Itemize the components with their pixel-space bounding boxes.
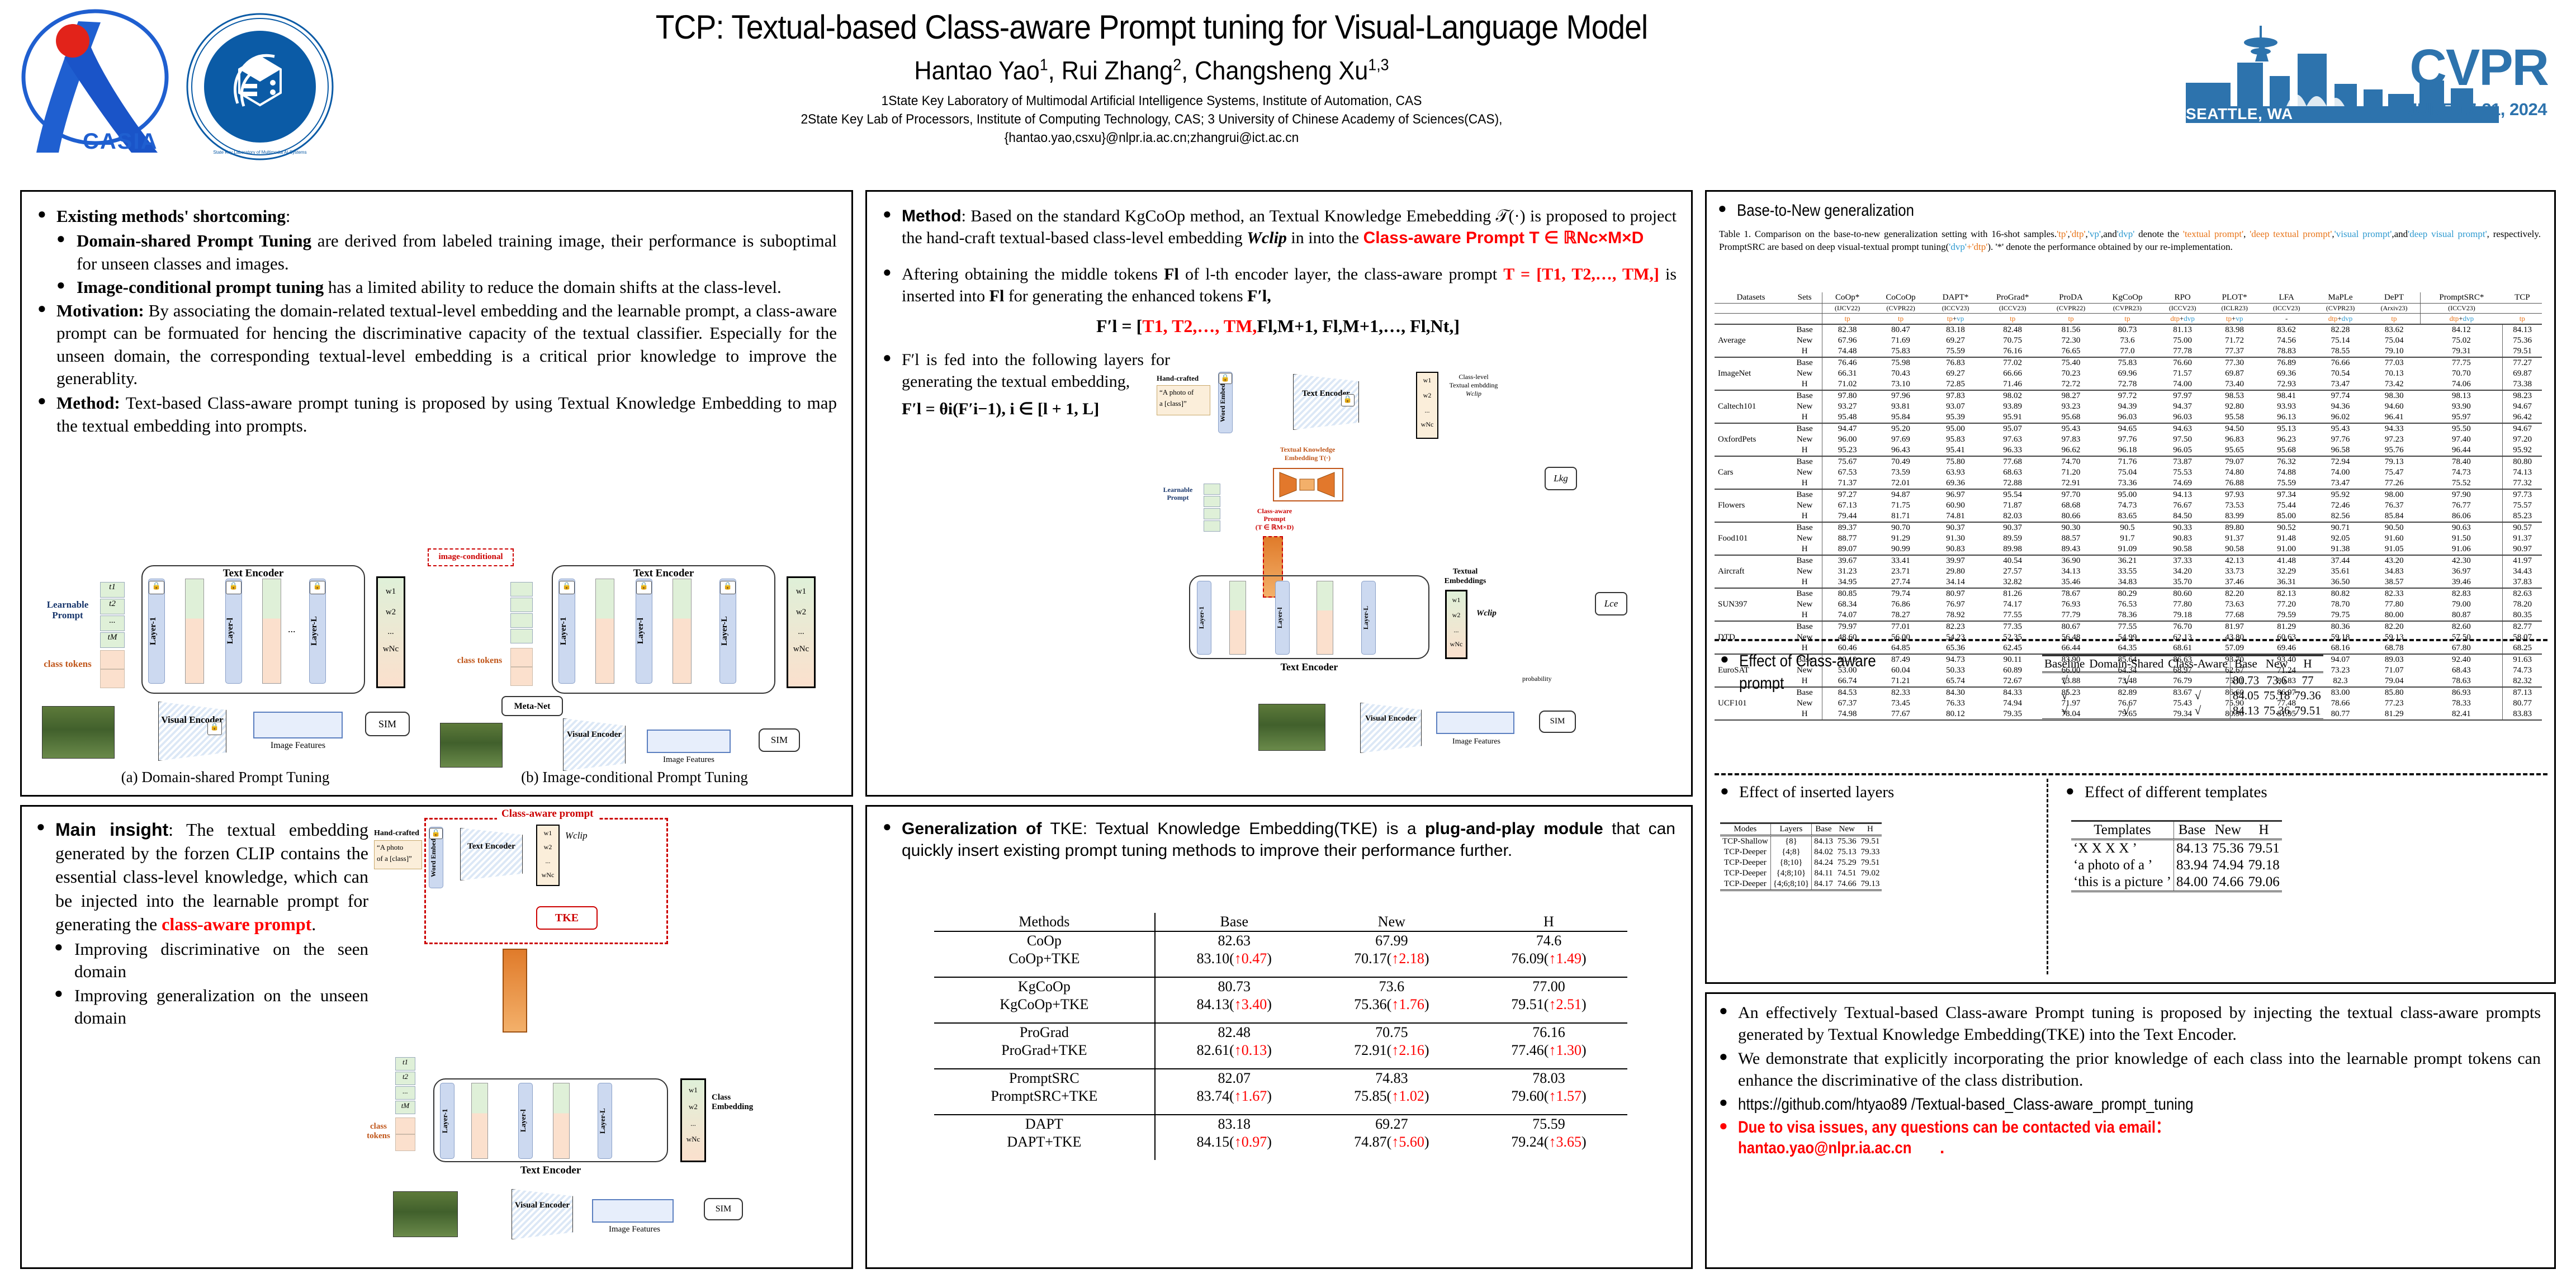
cell-value: 72.94	[2313, 456, 2368, 467]
fig-a-text-encoder-box	[141, 565, 365, 694]
contact-email-link[interactable]: hantao.yao@nlpr.ia.ac.cn	[1738, 1138, 1911, 1159]
bullet-effect-templates: Effect of different templates	[2062, 782, 2543, 803]
fig-c-token-dots: ...	[395, 1086, 415, 1100]
cell-new: 74.94	[2210, 857, 2246, 874]
table-row: ProGrad82.4870.7576.16	[934, 1023, 1627, 1041]
cell-value: 59.18	[2313, 632, 2368, 643]
fig-a-mid-tokens-1	[185, 579, 204, 684]
column-header: Datasets	[1715, 292, 1787, 304]
cell-value: 93.89	[1982, 401, 2043, 412]
cell-value: 82.33	[2368, 588, 2421, 599]
column-header: Base	[1155, 913, 1313, 931]
cell-value: 74.69	[2156, 478, 2209, 489]
cell-value: 64.35	[2099, 643, 2156, 654]
fm-prompt-line-2: a [class]”	[1157, 399, 1210, 408]
cell-value: 80.66	[2043, 511, 2099, 522]
cell-value: 73.47	[2313, 478, 2368, 489]
fig-c-class-tokens-label: class tokens	[363, 1122, 394, 1140]
cell-value: 59.13	[2368, 632, 2421, 643]
cell-value: 80.00	[2368, 610, 2421, 621]
equation-1-rest: Fl,M+1, Fl,M+1,…, Fl,Nt,]	[1257, 316, 1460, 336]
column-header: Layers	[1770, 823, 1811, 835]
cell-dataset: OxfordPets	[1715, 423, 1787, 456]
cell-method: PromptSRC	[934, 1069, 1155, 1087]
fm-cll-1: Class-level	[1443, 373, 1504, 381]
cell-value: 77.23	[2368, 698, 2421, 709]
ablation-templates-block: Effect of different templates TemplatesB…	[2062, 782, 2543, 893]
cell-value: 73.42	[2368, 379, 2421, 390]
fm-tke-1: Textual Knowledge	[1268, 446, 1347, 454]
fig-c-image-feature-box	[592, 1199, 674, 1223]
cell-value: 74.00	[2156, 379, 2209, 390]
cell-value: 98.53	[2209, 390, 2260, 401]
cell-set: Base	[1787, 324, 1822, 335]
cell-value: 74.88	[2260, 467, 2313, 478]
table-row: New93.2793.8193.0793.8993.2394.3994.3792…	[1715, 401, 2542, 412]
generalization-text-block: Generalization of TKE: Textual Knowledge…	[867, 807, 1691, 861]
cell-value: 74.73	[2421, 467, 2503, 478]
fig-c-wclip-label: Wclip	[565, 830, 588, 841]
fig-a-learnable-prompt-text: Learnable Prompt	[47, 599, 89, 621]
github-url[interactable]: https://github.com/htyao89 /Textual-base…	[1738, 1093, 2194, 1115]
ablation-caware-title-b-wrap: prompt	[1717, 674, 2030, 693]
fig-b-class-token-2	[510, 667, 533, 686]
cell-value: 77.80	[2156, 599, 2209, 610]
column-prompt-type: tp	[2099, 314, 2156, 325]
svg-text:CASIA: CASIA	[83, 129, 158, 154]
cell-value: 77.80	[2368, 599, 2421, 610]
column-prompt-type: tp	[2043, 314, 2099, 325]
cell-method: CoOp+TKE	[934, 950, 1155, 968]
fm-mid-tokens-2	[1317, 581, 1333, 655]
table-header-row: DatasetsSetsCoOp*CoCoOpDAPT*ProGrad*ProD…	[1715, 292, 2542, 304]
column-prompt-type: tp	[2368, 314, 2421, 325]
cell-value: 94.13	[2156, 489, 2209, 500]
table-row: DAPT83.1869.2775.59	[934, 1115, 1627, 1133]
column-prompt-type	[1787, 314, 1822, 325]
cell-set: H	[1787, 709, 1822, 720]
column-header: New	[2261, 656, 2292, 673]
cell-value: 80.97	[1929, 588, 1982, 599]
cell-set: New	[1787, 566, 1822, 577]
table-row: New67.9671.6969.2770.7572.3073.675.0071.…	[1715, 335, 2542, 346]
cell-value: 96.43	[1872, 445, 1929, 456]
fm-textual-embeddings-label: Textual Embeddings	[1438, 567, 1492, 586]
column-header: H	[1859, 823, 1882, 835]
generalization-table-wrap: MethodsBaseNewHCoOp82.6367.9974.6CoOp+TK…	[934, 913, 1627, 1160]
panel-generalization-tke: Generalization of TKE: Textual Knowledge…	[865, 805, 1693, 1269]
cell-value: 78.92	[1929, 610, 1982, 621]
cell-layers: {4;6;8;10}	[1770, 879, 1811, 891]
cell-value: 56.00	[1872, 632, 1929, 643]
cell-set: New	[1787, 335, 1822, 346]
fig-c-text-encoder-box	[433, 1078, 668, 1162]
cell-value: 96.05	[2156, 445, 2209, 456]
cell-value: 69.36	[1929, 478, 1982, 489]
table-bottom-rule-row	[2071, 891, 2282, 893]
cell-value: 80.85	[1822, 588, 1872, 599]
image-conditional-desc: has a limited ability to reduce the doma…	[324, 277, 782, 297]
cell-value: 75.57	[2503, 500, 2542, 511]
cell-value: 81.97	[2209, 621, 2260, 632]
fig-c-token-t1: t1	[395, 1057, 415, 1071]
cell-value: 40.54	[1982, 555, 2043, 566]
cell-new: 69.27	[1313, 1115, 1470, 1133]
cell-value: 90.71	[2313, 522, 2368, 533]
table-bottom-rule-row	[1720, 890, 1882, 892]
cell-value: 90.33	[2156, 522, 2209, 533]
generalization-title: Generalization of	[902, 820, 1041, 838]
cell-base: 82.48	[1155, 1023, 1313, 1041]
table-spacer-row	[934, 1105, 1627, 1115]
cell-value: 97.76	[2313, 434, 2368, 445]
cell-value: 71.07	[2368, 665, 2421, 676]
cell-value: 97.63	[1982, 434, 2043, 445]
cell-value: 95.91	[1982, 412, 2043, 423]
cell-value: 75.04	[2099, 467, 2156, 478]
column-venue: (CVPR22)	[2043, 304, 2099, 314]
fig-b-class-token-1	[510, 648, 533, 667]
cell-h: 76.09(↑1.49)	[1470, 950, 1627, 968]
cell-value: 97.34	[2260, 489, 2313, 500]
fig-a-token-tM-label: tM	[108, 633, 117, 642]
cell-method: KgCoOp+TKE	[934, 996, 1155, 1014]
fig-a-class-token-1	[100, 650, 125, 669]
cell-base: 84.17	[1812, 879, 1835, 891]
cell-value: 97.70	[2043, 489, 2099, 500]
cell-value: 95.00	[2099, 489, 2156, 500]
cell-value: 95.23	[1822, 445, 1872, 456]
cell-set: H	[1787, 346, 1822, 357]
cell-value: 74.98	[1822, 709, 1872, 720]
cell-value: 77.0	[2099, 346, 2156, 357]
table-row: TCP-Deeper{8;10}84.2475.2979.51	[1720, 858, 1882, 868]
cell-value: 75.83	[2099, 357, 2156, 368]
cell-value: 27.74	[1872, 577, 1929, 588]
cell-set: New	[1787, 500, 1822, 511]
column-venue: (ICCV23)	[1929, 304, 1982, 314]
cell-value: 81.29	[2260, 621, 2313, 632]
column-venue: (ICCV23)	[2156, 304, 2209, 314]
cell-value: 76.89	[2260, 357, 2313, 368]
fig-b-visual-encoder-text: Visual Encoder	[567, 730, 622, 739]
fig-b-token-3	[510, 613, 533, 628]
bullet-github-link[interactable]: https://github.com/htyao89 /Textual-base…	[1716, 1093, 2541, 1115]
cell-value: 34.95	[1822, 577, 1872, 588]
fig-c-token-tM: tM	[395, 1101, 415, 1114]
method-b2-F3: F′l,	[1247, 287, 1271, 305]
cell-value: 83.18	[1929, 324, 1982, 335]
cell-value: 37.46	[2209, 577, 2260, 588]
cell-value: 77.55	[1982, 610, 2043, 621]
cell-value: 79.18	[2156, 610, 2209, 621]
fig-a-lock-icon-1: 🔒	[149, 581, 164, 594]
cell-value: 94.33	[2368, 423, 2421, 434]
cell-value: 57.50	[2421, 632, 2503, 643]
ablation-layers-table-wrap: ModesLayersBaseNewHTCP-Shallow{8}84.1375…	[1720, 822, 2035, 892]
cell-value: 98.02	[1982, 390, 2043, 401]
cell-value: 97.23	[2368, 434, 2421, 445]
column-header: TCP	[2503, 292, 2542, 304]
fig-a-text-encoder-label: Text Encoder	[141, 567, 365, 580]
cell-method: PromptSRC+TKE	[934, 1087, 1155, 1105]
title-block: TCP: Textual-based Class-aware Prompt tu…	[358, 8, 1945, 146]
insight-text-block: Main insight: The textual embedding gene…	[22, 807, 380, 1029]
fig-c-text-encoder-bottom-label: Text Encoder	[433, 1164, 668, 1177]
cell-value: 90.63	[2421, 522, 2503, 533]
fig-c-class-aware-prompt-badge: Class-aware prompt	[497, 808, 598, 820]
cell-value: 68.68	[2043, 500, 2099, 511]
cell-value: 68.78	[2368, 643, 2421, 654]
cell-value: 69.27	[1929, 335, 1982, 346]
affiliation-1: 1State Key Laboratory of Multimodal Arti…	[397, 93, 1906, 109]
fig-a-lock-icon-3: 🔒	[310, 581, 325, 594]
table-row: H34.9527.7434.1432.8235.4634.8335.7037.4…	[1715, 577, 2542, 588]
cell-value: 72.72	[2043, 379, 2099, 390]
cell-new: 73.6	[2261, 673, 2292, 689]
cell-value: 74.80	[2209, 467, 2260, 478]
cell-value: 77.26	[2368, 478, 2421, 489]
cell-value: 91.38	[2313, 544, 2368, 555]
cell-value: 96.00	[1822, 434, 1872, 445]
insight-sub-1-text: Improving discriminative on the seen dom…	[74, 939, 368, 981]
cell-value: 66.66	[1982, 368, 2043, 379]
cell-mode: TCP-Deeper	[1720, 847, 1770, 858]
cell-value: 77.68	[1982, 456, 2043, 467]
cell-value: 70.13	[2368, 368, 2421, 379]
bullet-effect-class-aware: Effect of Class-aware	[1717, 650, 2030, 672]
cell-value: 94.67	[2503, 423, 2542, 434]
fm-cap-1: Class-aware	[1244, 507, 1305, 515]
poster-header: CASIA State	[0, 0, 2576, 184]
table-row: H79.4481.7174.8182.0380.6683.6584.5083.9…	[1715, 511, 2542, 522]
cell-domain-shared-check	[2087, 688, 2166, 703]
cell-value: 34.14	[1929, 577, 1982, 588]
cell-set: Base	[1787, 489, 1822, 500]
fig-c-token-t2: t2	[395, 1072, 415, 1085]
cell-value: 91.06	[2421, 544, 2503, 555]
cell-value: 95.13	[2260, 423, 2313, 434]
cell-value: 95.65	[2209, 445, 2260, 456]
cell-value: 38.57	[2368, 577, 2421, 588]
table-row: H74.0778.2778.9277.5577.7978.3679.1877.6…	[1715, 610, 2542, 621]
cell-value: 52.35	[1982, 632, 2043, 643]
column-prompt-type: tp	[1822, 314, 1872, 325]
cell-value: 96.83	[2209, 434, 2260, 445]
fm-layer-1-label: Layer-1	[1197, 581, 1211, 654]
t1cap-p6: ). '*' denote the performance obtained b…	[1987, 241, 2233, 252]
fm-probability-label: probability	[1522, 675, 1552, 683]
figure-tcp-framework: Class-aware prompt Hand-crafted “A photo…	[368, 816, 849, 1263]
cell-dataset: Cars	[1715, 456, 1787, 489]
cell-value: 71.87	[1982, 500, 2043, 511]
cell-value: 97.73	[2503, 489, 2542, 500]
cell-value: 97.50	[2156, 434, 2209, 445]
fig-c-wclip-vector: w1 w2 ... wNc	[536, 825, 560, 886]
fig-c-ce-wNc: wNc	[682, 1128, 704, 1144]
cell-value: 90.99	[1872, 544, 1929, 555]
cell-value: 80.77	[2503, 698, 2542, 709]
cell-value: 71.46	[1982, 379, 2043, 390]
fig-a-w2: w2	[378, 596, 404, 617]
table-row: New31.2323.7129.8027.5734.1333.5534.2033…	[1715, 566, 2542, 577]
cell-value: 91.09	[2099, 544, 2156, 555]
cell-value: 91.05	[2368, 544, 2421, 555]
bullet-existing-methods-title: Existing methods' shortcoming	[56, 206, 286, 226]
fig-c-wclip-dots: ...	[537, 851, 558, 865]
cell-value: 71.37	[1822, 478, 1872, 489]
cell-value: 79.97	[1822, 621, 1872, 632]
fig-b-image-feature-box	[647, 730, 731, 753]
fig-c-layer-1-label: Layer-1	[441, 1083, 454, 1158]
cell-value: 97.74	[2313, 390, 2368, 401]
t1cap-p4: denote the	[2134, 229, 2183, 239]
column-venue	[2503, 304, 2542, 314]
column-header: Domain-Shared	[2087, 656, 2166, 673]
fm-tke-label: Textual Knowledge Embedding T(·)	[1268, 446, 1347, 462]
method-b2-d: for generating the enhanced tokens	[1004, 287, 1247, 305]
cell-h: 79.51	[1859, 835, 1882, 847]
table-row: New88.7791.2991.3089.5988.5791.790.8391.…	[1715, 533, 2542, 544]
fig-c-class-embedding-label: Class Embedding	[712, 1093, 747, 1112]
cell-class-aware-check	[2166, 673, 2230, 689]
fm-lp-token-1	[1204, 484, 1220, 495]
table-spacer-row	[934, 1014, 1627, 1023]
table-row: TCP-Deeper{4;8;10}84.1174.5179.02	[1720, 868, 1882, 879]
cell-value: 72.46	[2313, 500, 2368, 511]
bullet-main-insight: Main insight: The textual embedding gene…	[33, 818, 368, 936]
fig-c-layer-l: Layer-l	[518, 1083, 533, 1159]
cell-value: 78.33	[2421, 698, 2503, 709]
fm-text-encoder-box	[1189, 575, 1429, 659]
cell-value: 62.13	[2156, 632, 2209, 643]
cell-value: 83.98	[2209, 324, 2260, 335]
cell-h: 79.51	[2292, 703, 2323, 719]
column-header: KgCoOp	[2099, 292, 2156, 304]
fig-b-text-encoder-label: Text Encoder	[552, 567, 775, 580]
cell-value: 39.67	[1822, 555, 1872, 566]
cell-value: 70.70	[2421, 368, 2503, 379]
cell-h: 76.16	[1470, 1023, 1627, 1041]
cell-value: 95.92	[2503, 445, 2542, 456]
cell-value: 68.63	[1982, 467, 2043, 478]
cell-value: 36.21	[2099, 555, 2156, 566]
cell-value: 75.80	[1929, 456, 1982, 467]
cell-mode: TCP-Deeper	[1720, 879, 1770, 891]
cell-value: 95.20	[1872, 423, 1929, 434]
cell-set: H	[1787, 577, 1822, 588]
fig-a-token-dots: ...	[100, 615, 125, 631]
bullet-visa-notice: Due to visa issues, any questions can be…	[1716, 1117, 2541, 1158]
cell-h: 79.02	[1859, 868, 1882, 879]
fig-c-wclip-w2: w2	[537, 837, 558, 851]
cell-value: 37.83	[2503, 577, 2542, 588]
cell-value: 86.93	[2421, 687, 2503, 698]
cell-value: 75.00	[2156, 335, 2209, 346]
cell-value: 76.77	[2421, 500, 2503, 511]
cell-value: 78.55	[2313, 346, 2368, 357]
cell-value: 71.75	[1872, 500, 1929, 511]
cell-value: 56.48	[2043, 632, 2099, 643]
cell-value: 76.46	[1822, 357, 1872, 368]
cell-method: CoOp	[934, 931, 1155, 950]
cell-value: 39.46	[2421, 577, 2503, 588]
image-conditional-term: Image-conditional prompt tuning	[77, 277, 324, 297]
cell-value: 70.54	[2313, 368, 2368, 379]
fig-c-prompt-line-2: of a [class]”	[375, 854, 422, 863]
fm-lp-token-3	[1204, 508, 1220, 519]
cell-template: ‘this is a picture ’	[2071, 874, 2173, 892]
cell-set: Base	[1787, 522, 1822, 533]
cell-base: 83.74(↑1.67)	[1155, 1087, 1313, 1105]
cell-value: 89.80	[2209, 522, 2260, 533]
fig-c-class-embedding-vector: w1 w2 ... wNc	[680, 1078, 706, 1162]
table-row: MethodsBaseNewH	[934, 913, 1627, 931]
cell-value: 91.37	[2209, 533, 2260, 544]
fig-a-sim-label: SIM	[366, 713, 409, 730]
cell-value: 78.36	[2099, 610, 2156, 621]
cell-new: 75.85(↑1.02)	[1313, 1087, 1470, 1105]
fm-image-features-label: Image Features	[1433, 737, 1520, 746]
column-header: Base	[2173, 821, 2210, 839]
cell-value: 83.83	[2503, 709, 2542, 720]
cell-value: 70.43	[1872, 368, 1929, 379]
fm-loss-kg-box: Lkg	[1545, 467, 1577, 490]
cell-value: 96.03	[2099, 412, 2156, 423]
cell-set: New	[1787, 434, 1822, 445]
cell-value: 82.13	[2260, 588, 2313, 599]
cell-value: 81.26	[1982, 588, 2043, 599]
ablation-layers-table: ModesLayersBaseNewHTCP-Shallow{8}84.1375…	[1720, 822, 1882, 892]
cell-new: 75.13	[1835, 847, 1859, 858]
fm-te-2: Embeddings	[1438, 577, 1492, 586]
cell-value: 74.73	[2503, 665, 2542, 676]
table-row: Food101Base89.3790.7090.3790.3790.3090.5…	[1715, 522, 2542, 533]
cell-dataset: Flowers	[1715, 489, 1787, 522]
fm-input-image	[1258, 704, 1325, 751]
cell-value: 94.67	[2503, 401, 2542, 412]
cell-value: 91.37	[2503, 533, 2542, 544]
cell-value: 41.97	[2503, 555, 2542, 566]
cell-value: 41.48	[2260, 555, 2313, 566]
cell-value: 82.41	[2421, 709, 2503, 720]
cell-value: 89.03	[2368, 654, 2421, 665]
cell-value: 75.14	[2313, 335, 2368, 346]
table-row: ‘a photo of a ’83.9474.9479.18	[2071, 857, 2282, 874]
cell-value: 97.40	[2421, 434, 2503, 445]
fig-a-class-tokens-text: class tokens	[44, 659, 91, 669]
divider-2	[1715, 773, 2547, 775]
cell-value: 73.59	[1872, 467, 1929, 478]
equation-1-red: T1, T2,…, TM,	[1142, 316, 1257, 336]
fig-b-sim-box: SIM	[759, 728, 800, 752]
fig-c-visual-encoder-label: Visual Encoder	[512, 1190, 572, 1210]
cell-value: 76.33	[1929, 698, 1982, 709]
fig-b-mid-tokens-2	[673, 579, 692, 684]
fm-te-1: Textual	[1438, 567, 1492, 577]
fig-c-ce-dots: ...	[682, 1111, 704, 1128]
fig-b-text-encoder-box	[552, 565, 775, 694]
cell-new: 75.36	[2210, 839, 2246, 857]
t1cap-dtp: 'dtp'	[2070, 229, 2086, 239]
cell-value: 34.13	[2043, 566, 2099, 577]
column-header: RPO	[2156, 292, 2209, 304]
fig-b-badge-label: image-conditional	[429, 550, 513, 564]
cell-value: 78.83	[2260, 346, 2313, 357]
table-row: New68.3476.8676.9774.1776.9376.5377.8073…	[1715, 599, 2542, 610]
cell-method: ProGrad+TKE	[934, 1041, 1155, 1059]
cell-value: 82.32	[2503, 676, 2542, 687]
